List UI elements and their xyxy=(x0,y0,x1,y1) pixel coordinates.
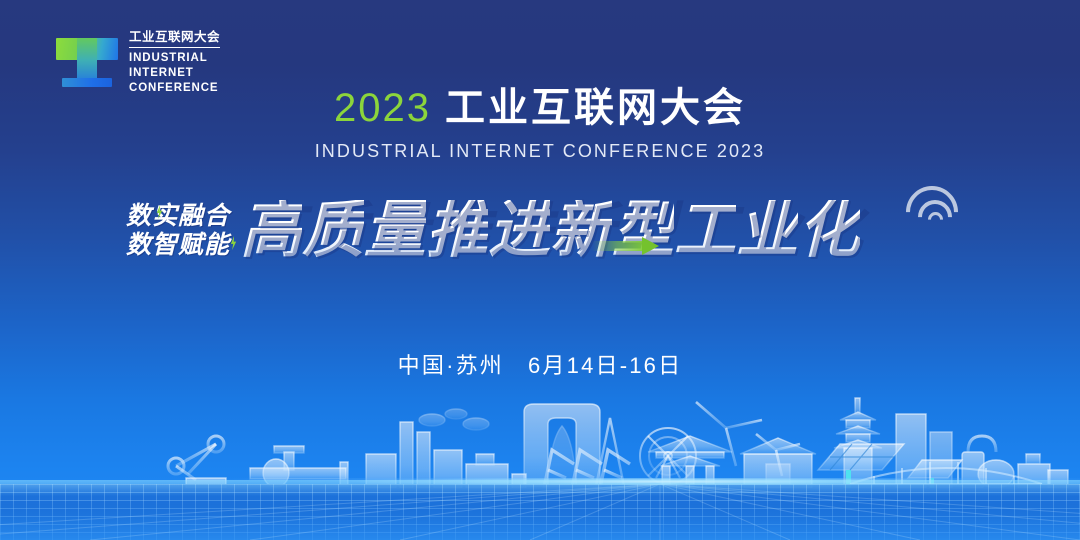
industrial-internet-t-mark-icon xyxy=(56,32,118,94)
robot-arm-icon xyxy=(168,436,224,480)
conference-logo: 工业互联网大会 INDUSTRIAL INTERNET CONFERENCE xyxy=(56,30,220,97)
slogan-char: 质 xyxy=(302,200,364,262)
slogan-block: 数实融合 数智赋能 高 质 量 推 进 新 型 工 业 化 xyxy=(126,183,860,279)
slogan-char: 工 xyxy=(674,200,736,262)
title-chinese: 工业互联网大会 xyxy=(445,86,746,130)
title-main-line: 2023工业互联网大会 xyxy=(0,88,1080,128)
slogan-small-lines: 数实融合 数智赋能 xyxy=(126,202,230,260)
perspective-grid-ground xyxy=(0,478,1080,540)
logo-text-block: 工业互联网大会 INDUSTRIAL INTERNET CONFERENCE xyxy=(129,30,220,97)
lightning-bolt-icon xyxy=(230,236,237,250)
slogan-char: 量 xyxy=(364,200,426,262)
logo-en-line-2: INTERNET xyxy=(129,67,194,79)
event-date: 6月14日-16日 xyxy=(528,353,682,378)
horizon-haze xyxy=(0,480,1080,496)
slogan-char: 业 xyxy=(736,200,798,262)
ferris-wheel-icon xyxy=(640,428,696,484)
slogan-small-text-1: 数实融合 xyxy=(126,202,230,230)
slogan-char: 进 xyxy=(488,200,550,262)
wifi-signal-arcs-icon xyxy=(888,170,950,232)
slogan-char: 高 xyxy=(240,200,302,262)
slogan-small-line-1: 数实融合 xyxy=(126,202,230,231)
title-english-subtitle: INDUSTRIAL INTERNET CONFERENCE 2023 xyxy=(0,141,1080,162)
gate-of-the-orient-icon xyxy=(524,404,600,486)
title-year: 2023 xyxy=(334,86,431,130)
event-location: 中国·苏州 xyxy=(398,353,504,378)
slogan-main-text: 高 质 量 推 进 新 型 工 业 化 xyxy=(240,200,860,262)
logo-chinese-name: 工业互联网大会 xyxy=(129,30,220,48)
event-dateline: 中国·苏州6月14日-16日 xyxy=(0,348,1080,380)
slogan-char: 推 xyxy=(426,200,488,262)
slogan-small-line-2: 数智赋能 xyxy=(126,231,230,260)
conference-poster: 工业互联网大会 INDUSTRIAL INTERNET CONFERENCE 2… xyxy=(0,0,1080,540)
slogan-small-text-2: 数智赋能 xyxy=(126,231,230,259)
title-block: 2023工业互联网大会 INDUSTRIAL INTERNET CONFEREN… xyxy=(0,88,1080,162)
logo-en-line-1: INDUSTRIAL xyxy=(129,52,208,64)
slogan-char: 化 xyxy=(798,200,860,262)
green-right-arrow-icon xyxy=(592,237,666,254)
